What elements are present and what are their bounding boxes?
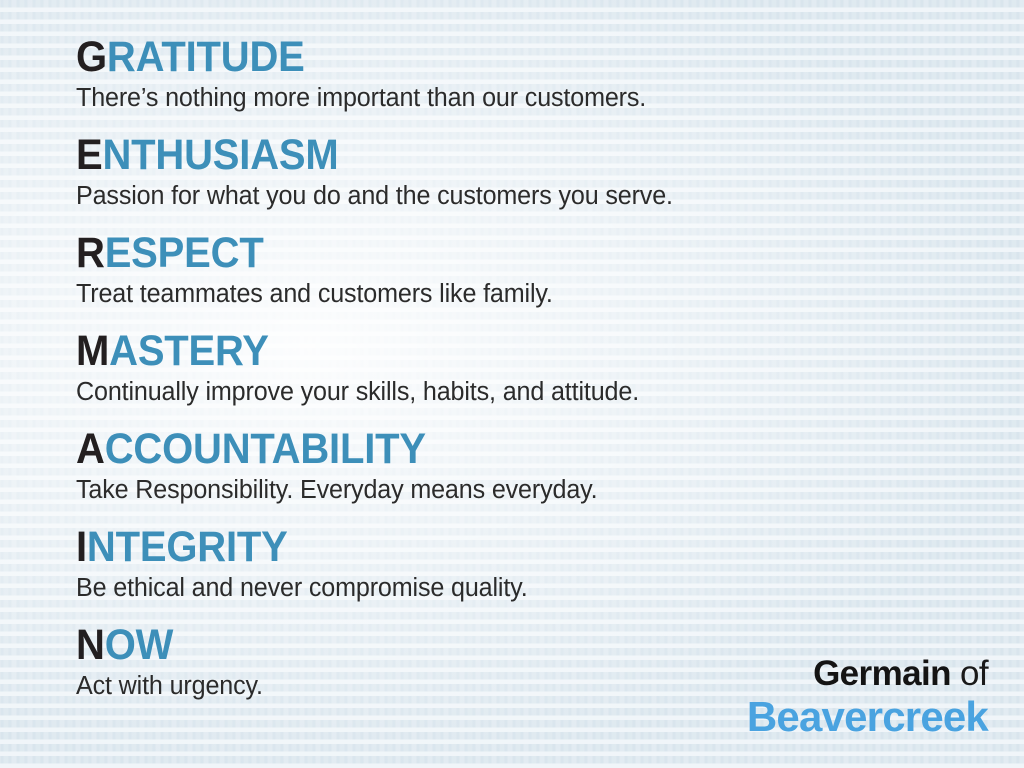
brand-dealer-name: Germain bbox=[813, 654, 951, 693]
value-initial-letter: N bbox=[76, 621, 105, 669]
brand-connector-word: of bbox=[951, 654, 988, 693]
core-values-list: GRATITUDE There’s nothing more important… bbox=[76, 34, 956, 701]
value-entry-enthusiasm: ENTHUSIASM Passion for what you do and t… bbox=[76, 132, 956, 211]
value-description-accountability: Take Responsibility. Everyday means ever… bbox=[76, 475, 943, 505]
value-initial-letter: A bbox=[76, 425, 105, 473]
value-description-respect: Treat teammates and customers like famil… bbox=[76, 279, 943, 309]
brand-logo: Germain of Beavercreek bbox=[747, 654, 988, 740]
value-heading-remainder: ESPECT bbox=[105, 229, 264, 277]
value-initial-letter: R bbox=[76, 229, 105, 277]
value-heading-mastery: MASTERY bbox=[76, 328, 894, 374]
value-heading-remainder: NTHUSIASM bbox=[102, 131, 338, 179]
value-heading-respect: RESPECT bbox=[76, 230, 894, 276]
value-heading-remainder: NTEGRITY bbox=[87, 523, 288, 571]
value-initial-letter: M bbox=[76, 327, 109, 375]
value-description-enthusiasm: Passion for what you do and the customer… bbox=[76, 181, 943, 211]
value-entry-mastery: MASTERY Continually improve your skills,… bbox=[76, 328, 956, 407]
brand-logo-line-primary: Germain of bbox=[747, 654, 988, 694]
value-description-integrity: Be ethical and never compromise quality. bbox=[76, 573, 943, 603]
value-initial-letter: I bbox=[76, 523, 87, 571]
value-description-gratitude: There’s nothing more important than our … bbox=[76, 83, 943, 113]
value-heading-remainder: RATITUDE bbox=[107, 33, 305, 81]
values-poster: GRATITUDE There’s nothing more important… bbox=[0, 0, 1024, 768]
value-heading-gratitude: GRATITUDE bbox=[76, 34, 894, 80]
value-entry-gratitude: GRATITUDE There’s nothing more important… bbox=[76, 34, 956, 113]
value-entry-integrity: INTEGRITY Be ethical and never compromis… bbox=[76, 524, 956, 603]
value-description-mastery: Continually improve your skills, habits,… bbox=[76, 377, 943, 407]
brand-location-name: Beavercreek bbox=[747, 694, 988, 740]
value-heading-integrity: INTEGRITY bbox=[76, 524, 894, 570]
value-heading-accountability: ACCOUNTABILITY bbox=[76, 426, 894, 472]
value-heading-remainder: OW bbox=[105, 621, 173, 669]
value-entry-accountability: ACCOUNTABILITY Take Responsibility. Ever… bbox=[76, 426, 956, 505]
value-heading-enthusiasm: ENTHUSIASM bbox=[76, 132, 894, 178]
value-heading-remainder: ASTERY bbox=[109, 327, 269, 375]
value-entry-respect: RESPECT Treat teammates and customers li… bbox=[76, 230, 956, 309]
value-heading-remainder: CCOUNTABILITY bbox=[105, 425, 426, 473]
value-initial-letter: E bbox=[76, 131, 102, 179]
value-initial-letter: G bbox=[76, 33, 107, 81]
